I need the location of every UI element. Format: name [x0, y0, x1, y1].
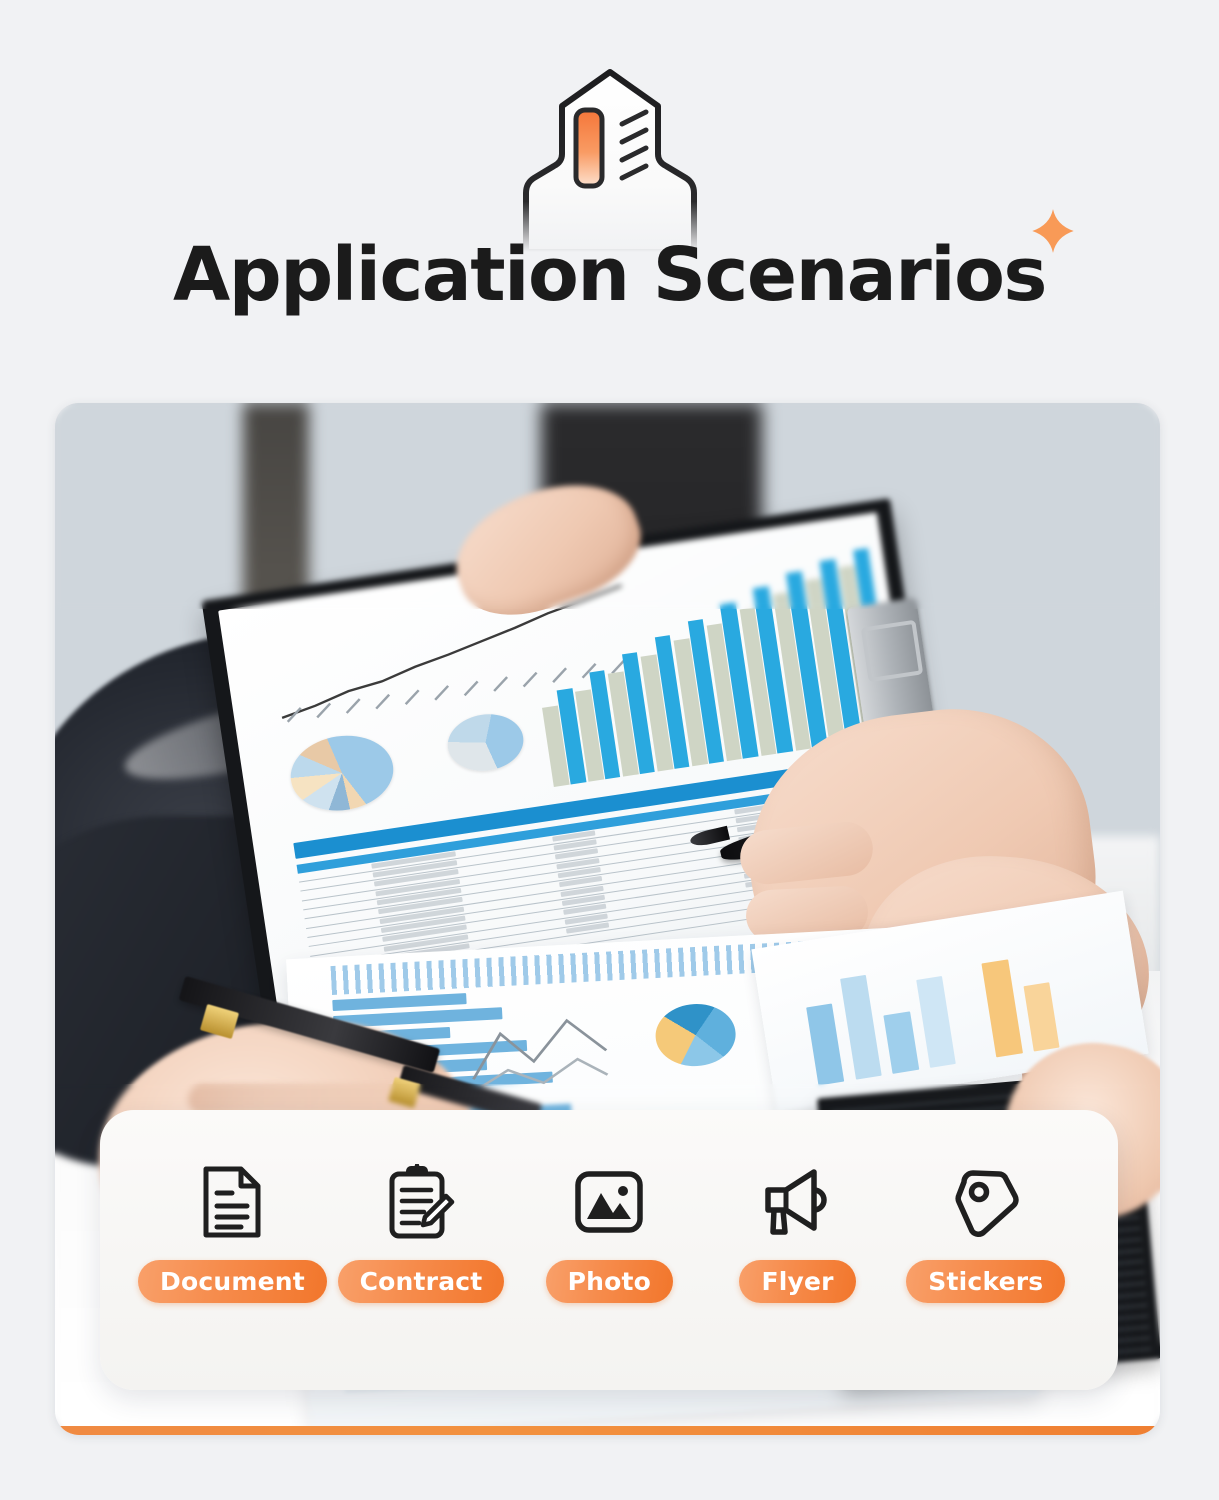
pie-chart-1 [285, 730, 398, 818]
page-header: Application Scenarios [0, 0, 1219, 372]
badge-photo[interactable]: Photo [515, 1162, 703, 1303]
building-tower-icon [500, 62, 720, 252]
badge-document[interactable]: Document [138, 1162, 327, 1303]
badge-label[interactable]: Document [138, 1260, 327, 1303]
badge-stickers[interactable]: Stickers [892, 1162, 1080, 1303]
badge-label[interactable]: Flyer [739, 1260, 855, 1303]
badge-row: Document Con [100, 1162, 1118, 1303]
clipboard-pen-icon [386, 1162, 456, 1242]
tag-icon [951, 1162, 1021, 1242]
pie-chart-2 [443, 710, 527, 777]
megaphone-icon [760, 1162, 836, 1242]
sparkle-star-icon [1030, 208, 1076, 254]
page-title-wrap: Application Scenarios [0, 238, 1219, 312]
application-scenarios-panel: Document Con [100, 1110, 1118, 1390]
badge-label[interactable]: Photo [546, 1260, 673, 1303]
image-icon [573, 1162, 645, 1242]
badge-label[interactable]: Stickers [906, 1260, 1065, 1303]
badge-contract[interactable]: Contract [327, 1162, 515, 1303]
sheet-pie-1 [654, 1002, 737, 1068]
badge-flyer[interactable]: Flyer [703, 1162, 891, 1303]
badge-label[interactable]: Contract [338, 1260, 505, 1303]
page-root: Application Scenarios [0, 0, 1219, 1500]
page-title: Application Scenarios [173, 238, 1046, 312]
document-icon [201, 1162, 263, 1242]
